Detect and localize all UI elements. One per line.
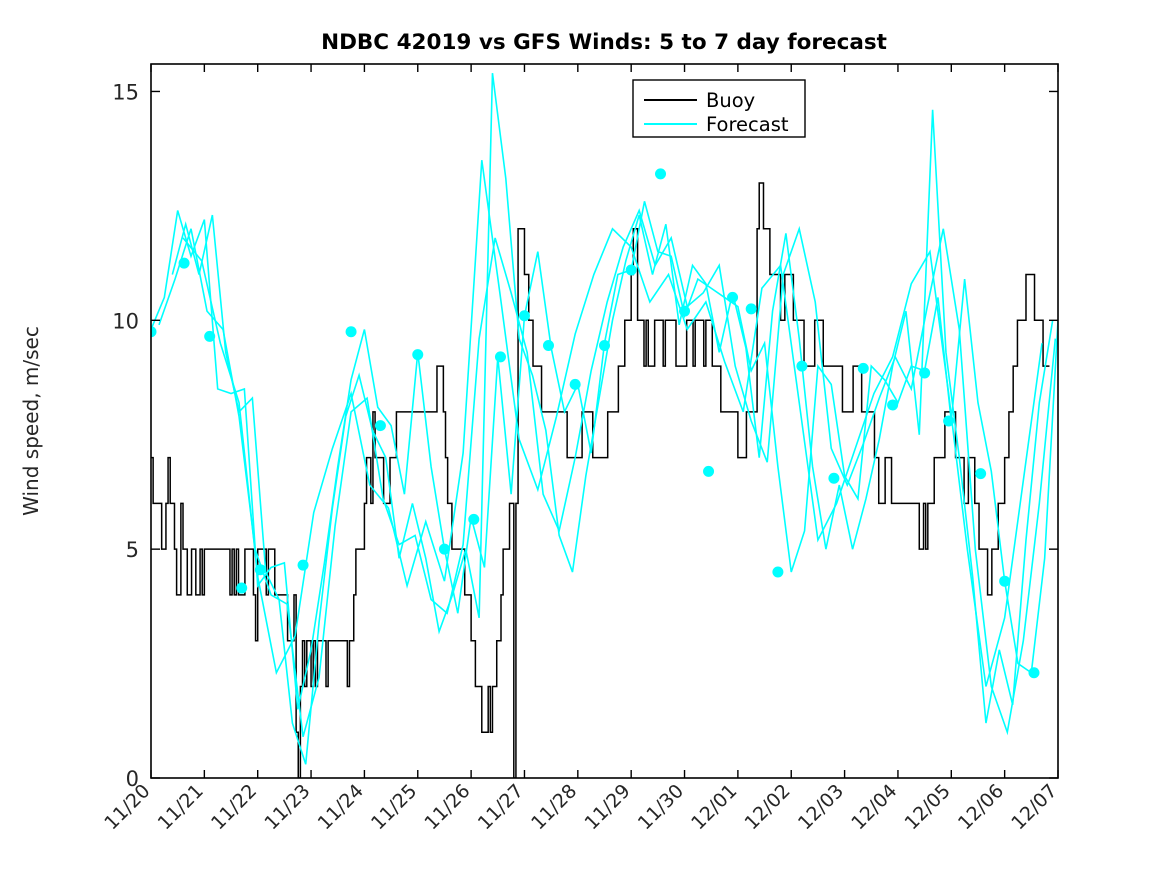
forecast-marker-16 xyxy=(626,264,637,275)
forecast-marker-14 xyxy=(570,379,581,390)
forecast-marker-12 xyxy=(519,310,530,321)
y-tick-label-5: 5 xyxy=(126,538,139,562)
forecast-marker-23 xyxy=(796,361,807,372)
y-axis-label: Wind speed, m/sec xyxy=(19,326,43,516)
forecast-marker-5 xyxy=(298,560,309,571)
forecast-marker-3 xyxy=(236,583,247,594)
legend-label-buoy: Buoy xyxy=(706,89,755,112)
forecast-marker-19 xyxy=(703,466,714,477)
forecast-marker-20 xyxy=(727,292,738,303)
forecast-marker-28 xyxy=(943,416,954,427)
wind-speed-chart: NDBC 42019 vs GFS Winds: 5 to 7 day fore… xyxy=(0,0,1167,875)
forecast-marker-8 xyxy=(412,349,423,360)
forecast-marker-27 xyxy=(919,367,930,378)
forecast-marker-24 xyxy=(828,473,839,484)
forecast-marker-31 xyxy=(1028,667,1039,678)
figure-canvas: NDBC 42019 vs GFS Winds: 5 to 7 day fore… xyxy=(0,0,1167,875)
forecast-marker-21 xyxy=(746,303,757,314)
forecast-marker-10 xyxy=(468,514,479,525)
forecast-marker-11 xyxy=(495,351,506,362)
forecast-marker-17 xyxy=(655,168,666,179)
forecast-marker-25 xyxy=(858,363,869,374)
y-tick-label-10: 10 xyxy=(112,309,139,333)
forecast-marker-7 xyxy=(375,420,386,431)
forecast-marker-9 xyxy=(439,544,450,555)
forecast-marker-30 xyxy=(999,576,1010,587)
forecast-marker-4 xyxy=(255,564,266,575)
chart-legend[interactable]: Buoy Forecast xyxy=(633,80,805,137)
forecast-marker-29 xyxy=(975,468,986,479)
forecast-marker-13 xyxy=(543,340,554,351)
forecast-marker-18 xyxy=(679,306,690,317)
forecast-marker-2 xyxy=(204,331,215,342)
forecast-marker-26 xyxy=(887,399,898,410)
forecast-marker-22 xyxy=(772,567,783,578)
chart-background xyxy=(0,0,1167,875)
y-tick-label-15: 15 xyxy=(112,80,139,104)
forecast-marker-6 xyxy=(346,326,357,337)
chart-title: NDBC 42019 vs GFS Winds: 5 to 7 day fore… xyxy=(321,30,887,55)
forecast-marker-1 xyxy=(179,258,190,269)
forecast-marker-15 xyxy=(599,340,610,351)
y-tick-label-0: 0 xyxy=(126,767,139,791)
legend-label-forecast: Forecast xyxy=(706,113,789,136)
